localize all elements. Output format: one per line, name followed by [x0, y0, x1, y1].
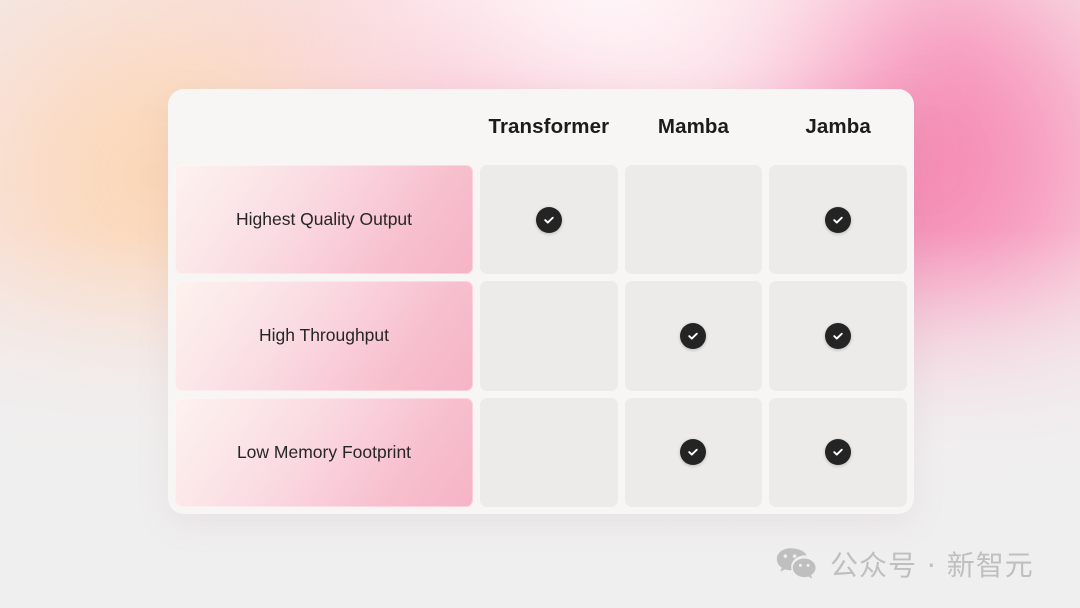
- cell-high-throughput-transformer[interactable]: [480, 281, 618, 390]
- row-label-high-throughput: High Throughput: [175, 281, 473, 390]
- cell-highest-quality-output-mamba[interactable]: [625, 165, 763, 274]
- column-header-jamba: Jamba: [769, 89, 907, 158]
- check-circle-icon: [680, 439, 706, 465]
- table-header-corner: [175, 89, 473, 158]
- check-circle-icon: [825, 439, 851, 465]
- row-label-text: Low Memory Footprint: [237, 442, 411, 463]
- check-circle-icon: [680, 323, 706, 349]
- check-circle-icon: [825, 323, 851, 349]
- row-label-low-memory-footprint: Low Memory Footprint: [175, 398, 473, 507]
- check-circle-icon: [825, 207, 851, 233]
- row-label-highest-quality-output: Highest Quality Output: [175, 165, 473, 274]
- cell-high-throughput-mamba[interactable]: [625, 281, 763, 390]
- watermark-text: 公众号 · 新智元: [830, 544, 1034, 584]
- cell-highest-quality-output-transformer[interactable]: [480, 165, 618, 274]
- screenshot-canvas: Transformer Mamba Jamba Highest Quality …: [0, 0, 1080, 608]
- column-header-transformer: Transformer: [480, 89, 618, 158]
- column-header-label: Mamba: [658, 115, 729, 139]
- column-header-label: Jamba: [805, 115, 870, 139]
- cell-low-memory-footprint-jamba[interactable]: [769, 398, 907, 507]
- cell-low-memory-footprint-mamba[interactable]: [625, 398, 763, 507]
- watermark: 公众号 · 新智元: [775, 540, 1034, 588]
- cell-highest-quality-output-jamba[interactable]: [769, 165, 907, 274]
- cell-high-throughput-jamba[interactable]: [769, 281, 907, 390]
- cell-low-memory-footprint-transformer[interactable]: [480, 398, 618, 507]
- wechat-icon: [775, 546, 817, 582]
- row-label-text: Highest Quality Output: [236, 209, 412, 230]
- comparison-table-card: Transformer Mamba Jamba Highest Quality …: [168, 89, 914, 514]
- column-header-mamba: Mamba: [625, 89, 763, 158]
- comparison-grid: Transformer Mamba Jamba Highest Quality …: [168, 89, 914, 514]
- column-header-label: Transformer: [488, 115, 609, 139]
- row-label-text: High Throughput: [259, 325, 389, 346]
- check-circle-icon: [536, 207, 562, 233]
